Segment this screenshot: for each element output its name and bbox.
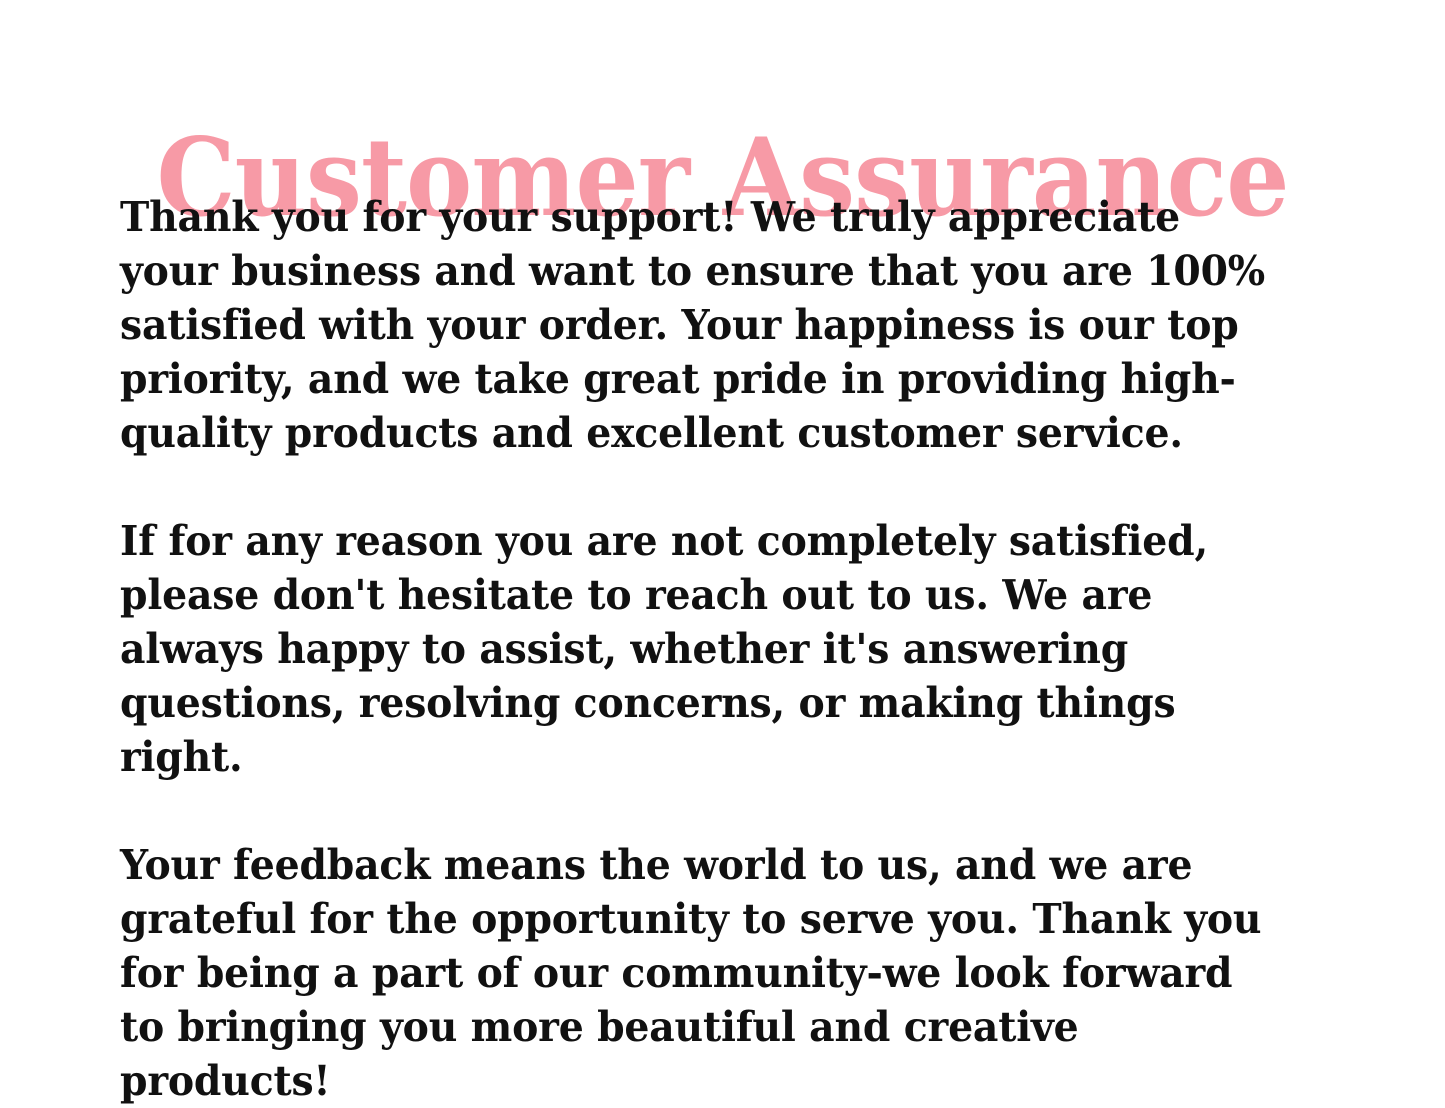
paragraph-3: Your feedback means the world to us, and… xyxy=(120,838,1274,1108)
body-copy: Thank you for your support! We truly app… xyxy=(120,190,1322,1108)
paragraph-1: Thank you for your support! We truly app… xyxy=(120,190,1274,460)
paragraph-2: If for any reason you are not completely… xyxy=(120,514,1274,784)
document-page: Customer Assurance Thank you for your su… xyxy=(0,0,1445,1084)
